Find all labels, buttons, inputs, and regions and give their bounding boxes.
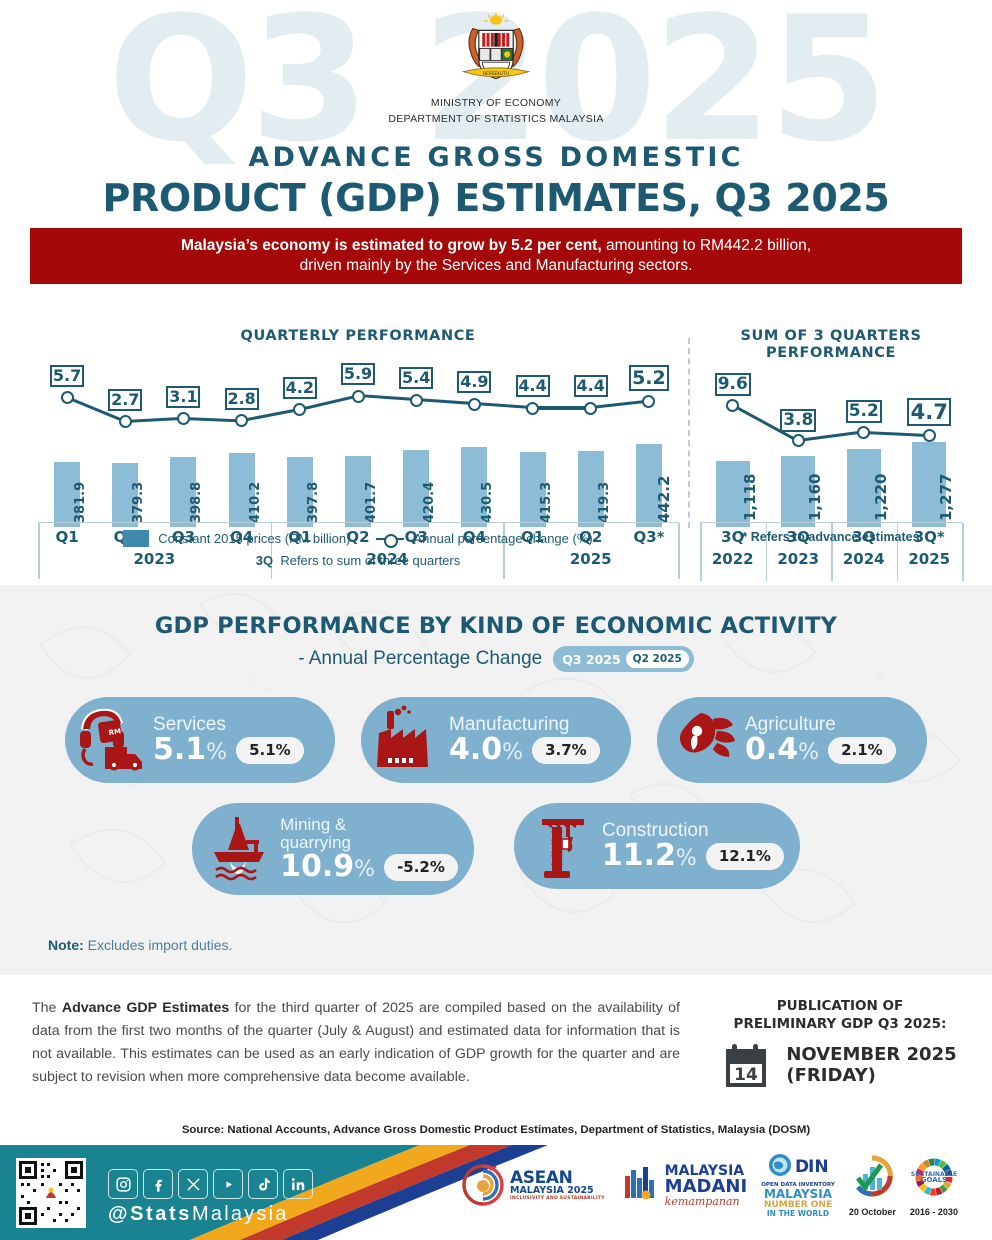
partner-logos: ASEAN MALAYSIA 2025 INCLUSIVITY AND SUST…	[460, 1153, 958, 1218]
activity-note: Note: Excludes import duties.	[48, 937, 232, 953]
sector-current-value: 11.2%	[602, 841, 697, 871]
source-line: Source: National Accounts, Advance Gross…	[0, 1124, 992, 1136]
factory-icon	[371, 703, 445, 777]
qr-code-icon[interactable]	[16, 1158, 86, 1228]
calendar-icon: 14	[723, 1039, 775, 1091]
malaysia-coat-of-arms-icon: BERSEKUTU	[453, 8, 539, 94]
madani-line-2: MADANI	[665, 1178, 747, 1196]
charts-section: QUARTERLY PERFORMANCE 381.9379.3398.8410…	[0, 300, 992, 584]
tiktok-icon[interactable]	[248, 1169, 278, 1199]
sector-card-manufacturing[interactable]: Manufacturing4.0%3.7%	[361, 697, 631, 783]
bar-value-label: 410.2	[248, 482, 263, 523]
sector-current-value: 5.1%	[153, 735, 227, 765]
line-marker	[293, 403, 306, 416]
madani-line-3: kemampanan	[665, 1196, 747, 1207]
line-segment	[798, 431, 864, 443]
legend-bar-label: Constant 2015 prices (RM billion)	[158, 531, 350, 546]
statistics-day-caption: 20 October	[849, 1207, 896, 1217]
social-handle: @StatsMalaysia	[108, 1203, 289, 1226]
line-segment	[183, 417, 241, 423]
activity-title: GDP PERFORMANCE BY KIND OF ECONOMIC ACTI…	[0, 585, 992, 639]
bar-value-label: 381.9	[73, 482, 88, 523]
sector-previous-value: 12.1%	[706, 843, 784, 870]
line-marker	[235, 414, 248, 427]
line-value-label: 4.2	[283, 377, 317, 399]
sum3q-title-line-2: PERFORMANCE	[700, 345, 962, 362]
sector-card-services[interactable]: RMServices5.1%5.1%	[65, 697, 335, 783]
sector-name: Construction	[602, 821, 784, 841]
line-marker	[119, 415, 132, 428]
youtube-icon[interactable]	[213, 1169, 243, 1199]
sector-name: Mining &	[280, 816, 458, 834]
legend-3q-text: Refers to sum of three quarters	[280, 553, 460, 568]
bar-value-label: 1,277	[937, 473, 955, 520]
line-segment	[591, 400, 650, 410]
period-previous-label: Q2 2025	[626, 650, 689, 668]
bar-value-label: 398.8	[189, 482, 204, 523]
facebook-icon[interactable]	[143, 1169, 173, 1199]
quarterly-performance-chart: QUARTERLY PERFORMANCE 381.9379.3398.8410…	[38, 328, 678, 527]
activity-subtitle-row: - Annual Percentage Change Q3 2025 Q2 20…	[0, 646, 992, 672]
legend-line-label: Annual percentage change (%)	[413, 531, 592, 546]
sector-current-value: 10.9%	[280, 852, 375, 882]
bar-value-label: 419.3	[597, 482, 612, 523]
header: Q3 2025	[0, 0, 992, 225]
sdg-caption: 2016 - 2030	[910, 1207, 958, 1217]
linkedin-icon[interactable]	[283, 1169, 313, 1199]
economic-activity-section: GDP PERFORMANCE BY KIND OF ECONOMIC ACTI…	[0, 585, 992, 975]
line-value-label: 4.7	[907, 398, 951, 426]
axis-divider	[962, 523, 964, 581]
footer: @StatsMalaysia ASEAN MALAYSIA 20	[0, 1145, 992, 1240]
sector-current-value: 0.4%	[745, 735, 819, 765]
bar-value-label: 415.3	[539, 482, 554, 523]
line-value-label: 4.4	[516, 375, 550, 397]
line-value-label: 2.7	[108, 389, 142, 411]
activity-note-label: Note:	[48, 937, 84, 953]
asean-malaysia-2025-logo: ASEAN MALAYSIA 2025 INCLUSIVITY AND SUST…	[460, 1162, 605, 1208]
period-current-label: Q3 2025	[562, 652, 620, 667]
paragraph-pre: The	[32, 1000, 62, 1016]
line-value-label: 3.1	[166, 386, 200, 408]
statistics-day-icon	[850, 1154, 894, 1200]
legend-line-entry: Annual percentage change (%)	[376, 531, 592, 546]
line-value-label: 5.2	[846, 400, 882, 423]
line-segment	[864, 431, 930, 437]
bar-value-label: 401.7	[364, 482, 379, 523]
odin-globe-icon: D IN	[767, 1153, 829, 1177]
line-marker	[410, 394, 423, 407]
bar-value-label: 1,118	[741, 473, 759, 520]
line-segment	[358, 394, 416, 401]
legend-bar-entry: Constant 2015 prices (RM billion)	[123, 530, 350, 547]
line-value-label: 5.2	[629, 365, 669, 391]
pub-title-line-2: PRELIMINARY GDP Q3 2025:	[700, 1015, 980, 1033]
asean-line-3: INCLUSIVITY AND SUSTAINABILITY	[510, 1196, 605, 1201]
title-line-1: ADVANCE GROSS DOMESTIC	[0, 142, 992, 173]
line-value-label: 3.8	[780, 409, 816, 432]
line-segment	[474, 402, 532, 409]
quarterly-chart-title: QUARTERLY PERFORMANCE	[38, 328, 678, 345]
svg-text:BERSEKUTU: BERSEKUTU	[483, 71, 509, 77]
svg-text:RM: RM	[108, 727, 121, 737]
line-value-label: 2.8	[225, 388, 259, 410]
pub-date-line-2: (FRIDAY)	[786, 1065, 956, 1086]
publication-block: PUBLICATION OF PRELIMINARY GDP Q3 2025: …	[700, 997, 980, 1091]
sum3q-year-label: 2022	[700, 549, 766, 574]
advance-estimates-note: * Refers to advance estimates	[700, 530, 962, 544]
line-value-label: 9.6	[715, 373, 751, 396]
sector-card-agriculture[interactable]: Agriculture0.4%2.1%	[657, 697, 927, 783]
sector-name: Agriculture	[745, 715, 896, 735]
chart-divider	[688, 338, 690, 528]
ministry-line-2: DEPARTMENT OF STATISTICS MALAYSIA	[0, 113, 992, 126]
banner-light-text: amounting to RM442.2 billion,	[602, 237, 811, 254]
line-value-label: 5.7	[50, 365, 84, 387]
bar-value-label: 397.8	[306, 482, 321, 523]
bar-value-label: 1,220	[872, 473, 890, 520]
malaysia-madani-logo: MALAYSIA MADANI kemampanan	[619, 1162, 747, 1208]
line-segment	[125, 417, 183, 424]
sector-name: Services	[153, 715, 304, 735]
bar-value-label: 420.4	[422, 482, 437, 523]
pub-title-line-1: PUBLICATION OF	[700, 997, 980, 1015]
delivery-truck-icon: RM	[75, 703, 149, 777]
calendar-day-number: 14	[735, 1065, 759, 1085]
statistics-day-logo: 20 October	[849, 1154, 896, 1217]
activity-note-body: Excludes import duties.	[84, 937, 233, 953]
legend-bar-swatch	[123, 530, 149, 547]
line-value-label: 5.9	[341, 363, 375, 385]
pub-date-line-1: NOVEMBER 2025	[786, 1044, 956, 1065]
sector-previous-value: 2.1%	[828, 737, 896, 764]
sector-cards-row-1: RMServices5.1%5.1%Manufacturing4.0%3.7%A…	[0, 697, 992, 783]
line-value-label: 4.4	[574, 375, 608, 397]
line-segment	[241, 408, 300, 423]
social-icons-group	[108, 1169, 313, 1199]
madani-crescent-icon	[619, 1162, 661, 1208]
hibiscus-icon	[667, 703, 741, 777]
sector-previous-value: 3.7%	[532, 737, 600, 764]
sector-previous-value: -5.2%	[384, 854, 458, 881]
asean-line-2: MALAYSIA 2025	[510, 1186, 605, 1196]
explanatory-paragraph: The Advance GDP Estimates for the third …	[32, 997, 680, 1089]
legend-3q-abbr: 3Q	[256, 553, 273, 568]
line-marker	[923, 429, 936, 442]
line-marker	[857, 426, 870, 439]
sdg-malaysia-logo: SUSTAINABLE GOALS 2016 - 2030	[910, 1154, 958, 1217]
line-marker	[726, 399, 739, 412]
sector-name: Manufacturing	[449, 715, 600, 735]
line-marker	[61, 391, 74, 404]
handle-light: Malaysia	[192, 1203, 289, 1225]
bar-value-label: 442.2	[655, 476, 673, 523]
activity-subtitle: - Annual Percentage Change	[298, 648, 542, 670]
period-toggle[interactable]: Q3 2025 Q2 2025	[553, 646, 694, 672]
asean-swirl-icon	[460, 1162, 506, 1208]
bottom-section: The Advance GDP Estimates for the third …	[0, 975, 992, 1120]
sum3q-year-label: 2024	[831, 549, 897, 574]
paragraph-bold: Advance GDP Estimates	[62, 1000, 229, 1016]
sum3q-year-label: 2025	[897, 549, 963, 574]
sum3q-year-label: 2023	[766, 549, 832, 574]
banner-line-2: driven mainly by the Services and Manufa…	[300, 257, 693, 274]
sector-card-mining[interactable]: Mining &quarrying10.9%-5.2%	[192, 803, 474, 895]
line-value-label: 4.9	[457, 371, 491, 393]
line-marker	[468, 398, 481, 411]
x-twitter-icon[interactable]	[178, 1169, 208, 1199]
odin-malaysia-logo: D IN OPEN DATA INVENTORY MALAYSIA NUMBER…	[761, 1153, 835, 1218]
chart-legend: Constant 2015 prices (RM billion) Annual…	[38, 530, 678, 568]
line-marker	[584, 402, 597, 415]
sector-card-construction[interactable]: Construction11.2%12.1%	[514, 803, 800, 889]
sector-cards-row-2: Mining &quarrying10.9%-5.2%Construction1…	[0, 803, 992, 895]
svg-text:D: D	[795, 1157, 809, 1177]
instagram-icon[interactable]	[108, 1169, 138, 1199]
headline-banner: Malaysia’s economy is estimated to grow …	[30, 228, 962, 284]
sector-previous-value: 5.1%	[236, 737, 304, 764]
line-marker	[526, 402, 539, 415]
svg-text:GOALS: GOALS	[921, 1176, 947, 1184]
odin-line-4: MALAYSIA	[761, 1188, 835, 1201]
line-marker	[352, 390, 365, 403]
title-line-2: PRODUCT (GDP) ESTIMATES, Q3 2025	[0, 176, 992, 220]
line-value-label: 5.4	[399, 367, 433, 389]
sector-current-value: 4.0%	[449, 735, 523, 765]
banner-bold-text: Malaysia’s economy is estimated to grow …	[181, 237, 602, 254]
ministry-line-1: MINISTRY OF ECONOMY	[0, 97, 992, 110]
sum3q-title-line-1: SUM OF 3 QUARTERS	[700, 328, 962, 345]
line-marker	[792, 434, 805, 447]
bar-value-label: 430.5	[480, 482, 495, 523]
infographic-page: Q3 2025	[0, 0, 992, 1240]
line-segment	[533, 406, 591, 409]
bar-value-label: 379.3	[131, 482, 146, 523]
odin-line-6: IN THE WORLD	[761, 1210, 835, 1218]
bar-value-label: 1,160	[806, 473, 824, 520]
asean-line-1: ASEAN	[510, 1170, 605, 1186]
crane-icon	[524, 809, 598, 883]
line-marker	[642, 395, 655, 408]
legend-line-marker-icon	[376, 533, 404, 545]
line-marker	[177, 412, 190, 425]
oil-rig-icon	[202, 812, 276, 886]
svg-text:IN: IN	[808, 1157, 829, 1177]
sum-3-quarters-chart: SUM OF 3 QUARTERS PERFORMANCE 1,1181,160…	[700, 328, 962, 527]
sdg-wheel-icon: SUSTAINABLE GOALS	[911, 1154, 957, 1200]
line-segment	[416, 398, 474, 405]
handle-bold: @Stats	[108, 1203, 192, 1225]
legend-3q-note: 3Q Refers to sum of three quarters	[38, 553, 678, 568]
axis-divider	[678, 523, 680, 579]
